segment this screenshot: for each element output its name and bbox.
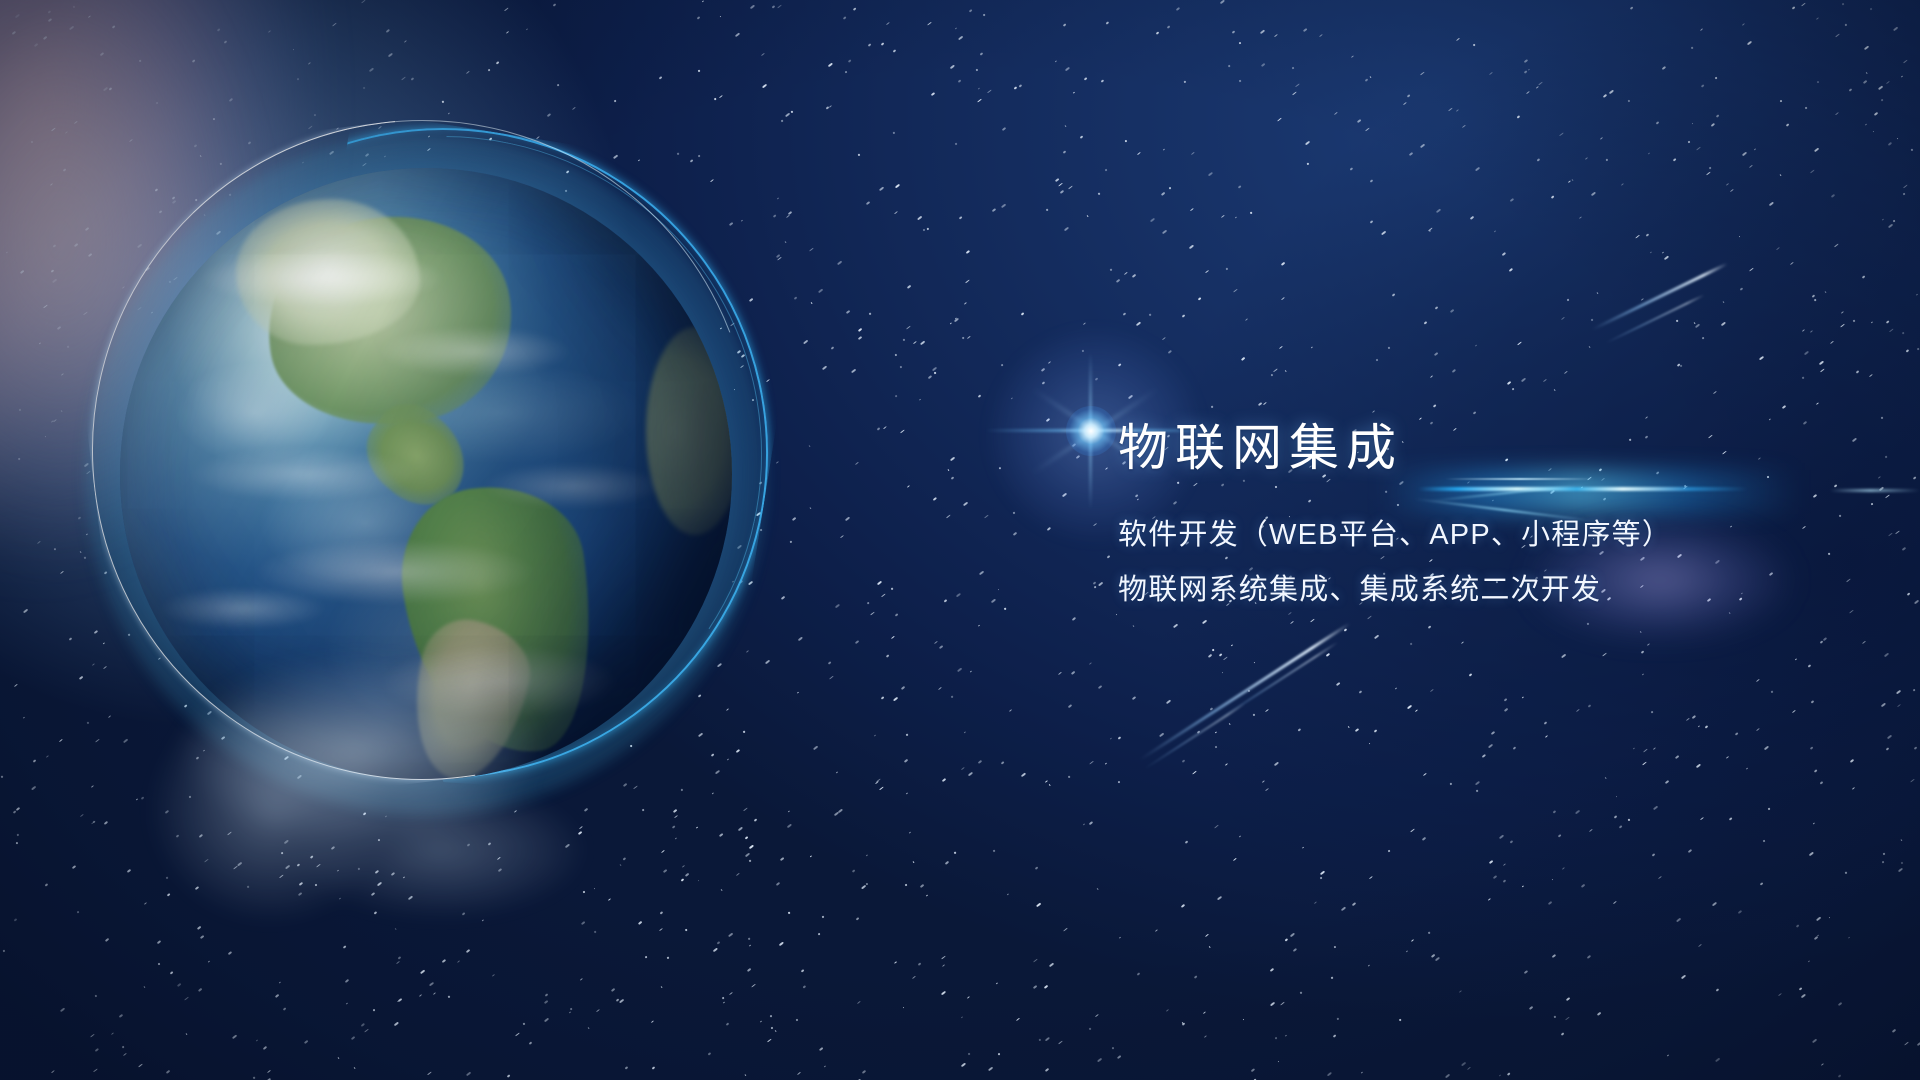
banner-text-block: 物联网集成 软件开发（WEB平台、APP、小程序等） 物联网系统集成、集成系统二… bbox=[1118, 418, 1838, 611]
banner-subtitle-line-2: 物联网系统集成、集成系统二次开发 bbox=[1118, 570, 1838, 611]
light-streak-far-right bbox=[1830, 489, 1920, 492]
banner-subtitle-line-1: 软件开发（WEB平台、APP、小程序等） bbox=[1118, 515, 1838, 556]
hero-banner: 物联网集成 软件开发（WEB平台、APP、小程序等） 物联网系统集成、集成系统二… bbox=[0, 0, 1920, 1080]
cloud-mist bbox=[60, 640, 680, 970]
page-title: 物联网集成 bbox=[1118, 418, 1838, 479]
